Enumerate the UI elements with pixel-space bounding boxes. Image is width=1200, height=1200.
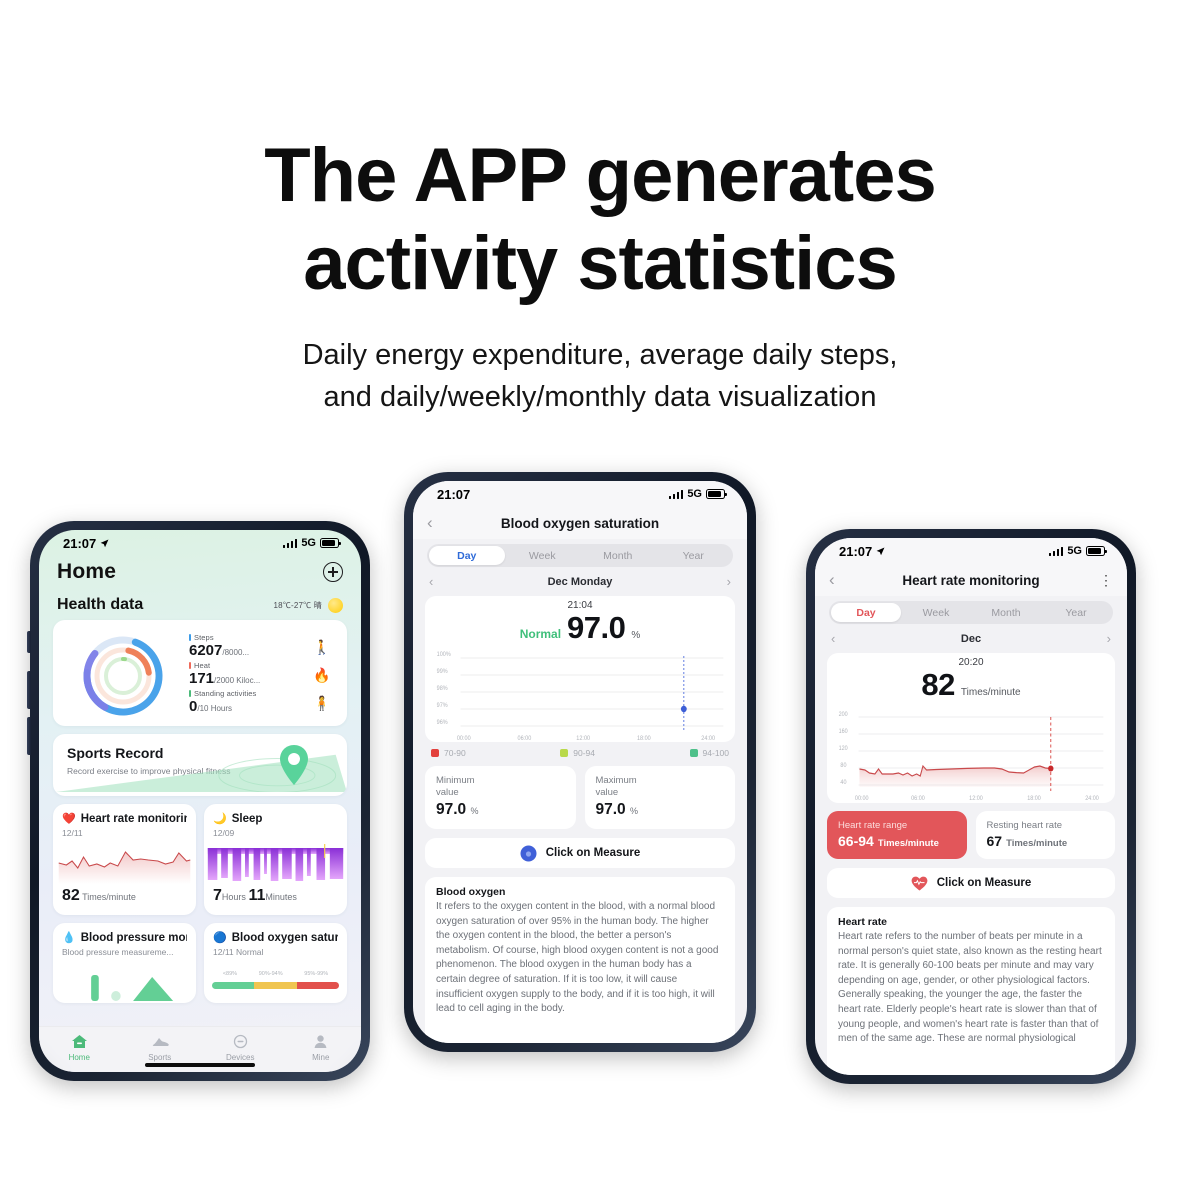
bo-range-0: <89% — [223, 971, 237, 977]
home-indicator — [145, 1063, 255, 1067]
svg-text:160: 160 — [839, 729, 848, 735]
phone-volume-down-button[interactable] — [27, 717, 31, 755]
spo2-status: Normal — [520, 627, 561, 641]
tab-devices[interactable]: Devices — [200, 1033, 281, 1062]
svg-text:24:00: 24:00 — [1085, 796, 1099, 802]
signal-icon — [1049, 547, 1064, 556]
svg-text:00:00: 00:00 — [855, 796, 869, 802]
hero-subtitle: Daily energy expenditure, average daily … — [0, 308, 1200, 418]
svg-text:200: 200 — [839, 712, 848, 718]
stat-heat-goal: /2000 Kiloc... — [214, 676, 260, 685]
location-arrow-icon — [876, 547, 885, 556]
stat-heat: Heat 171/2000 Kiloc... 🔥 — [189, 661, 331, 689]
location-pin-icon — [277, 744, 311, 786]
moon-icon: 🌙 — [213, 814, 227, 825]
hero-title-line2: activity statistics — [0, 220, 1200, 308]
location-arrow-icon — [100, 539, 109, 548]
status-right: 5G — [283, 537, 339, 549]
tab-month[interactable]: Month — [580, 546, 656, 565]
spo2-minimum-card: Minimumvalue 97.0 % — [425, 766, 576, 829]
activity-rings — [63, 632, 183, 718]
card-heart-rate-date: 12/11 — [53, 825, 196, 838]
measure-button-label: Click on Measure — [937, 877, 1032, 889]
sun-icon — [328, 598, 343, 613]
chevron-left-icon[interactable]: ‹ — [427, 513, 447, 533]
period-segmented-control: Day Week Month Year — [427, 544, 733, 567]
blood-oxygen-info-card: Blood oxygen It refers to the oxygen con… — [425, 877, 735, 1043]
spo2-chart-card: 21:04 Normal 97.0 % — [425, 596, 735, 742]
svg-text:18:00: 18:00 — [1027, 796, 1041, 802]
stat-steps: Steps 6207/8000... 🚶 — [189, 633, 331, 661]
spo2-min-value: 97.0 — [436, 801, 466, 818]
tab-week[interactable]: Week — [505, 546, 581, 565]
svg-text:100%: 100% — [437, 652, 451, 658]
date-prev-button[interactable]: ‹ — [429, 574, 433, 589]
info-body: It refers to the oxygen content in the b… — [436, 900, 724, 1017]
standing-person-icon: 🧍 — [313, 695, 331, 712]
stat-steps-value: 6207 — [189, 642, 222, 659]
heart-icon: ❤️ — [62, 814, 76, 825]
date-next-button[interactable]: › — [727, 574, 731, 589]
svg-text:98%: 98% — [437, 686, 448, 692]
flame-icon: 🔥 — [313, 667, 331, 684]
page-title: The APP generates activity statistics — [0, 0, 1200, 308]
home-title: Home — [57, 560, 116, 584]
walking-person-icon: 🚶 — [313, 639, 331, 656]
page-title: Blood oxygen saturation — [447, 516, 713, 531]
spo2-reading: 21:04 Normal 97.0 % — [425, 596, 735, 648]
date-prev-button[interactable]: ‹ — [831, 631, 835, 646]
stat-standing-label: Standing activities — [194, 689, 256, 698]
hero-sub-line1: Daily energy expenditure, average daily … — [303, 339, 898, 371]
date-next-button[interactable]: › — [1107, 631, 1111, 646]
card-heart-rate[interactable]: ❤️Heart rate monitorin 12/11 82 Times/mi… — [53, 804, 196, 915]
tab-sports-label: Sports — [120, 1053, 201, 1062]
health-data-label: Health data — [57, 596, 143, 614]
droplet-icon: 💧 — [62, 933, 76, 944]
bo-range-2: 95%-99% — [304, 971, 328, 977]
hr-unit: Times/minute — [961, 687, 1021, 698]
svg-text:96%: 96% — [437, 720, 448, 726]
plus-circle-icon[interactable] — [323, 562, 343, 582]
stat-steps-goal: /8000... — [222, 648, 249, 657]
card-sleep[interactable]: 🌙Sleep 12/09 — [204, 804, 347, 915]
card-heart-rate-value: 82 Times/minute — [53, 884, 196, 915]
stat-standing-goal: /10 Hours — [197, 704, 232, 713]
hero-sub-line2: and daily/weekly/monthly data visualizat… — [0, 376, 1200, 418]
spo2-maximum-card: Maximumvalue 97.0 % — [585, 766, 736, 829]
spo2-value: 97.0 — [567, 610, 625, 646]
oxygen-measure-icon — [520, 845, 537, 862]
card-blood-oxygen-subtitle: 12/11 Normal — [204, 944, 347, 957]
hr-range-value: 66-94 — [838, 833, 874, 849]
svg-text:12:00: 12:00 — [576, 736, 590, 742]
tab-day[interactable]: Day — [831, 603, 901, 622]
hr-resting-value: 67 — [987, 833, 1003, 849]
card-blood-oxygen[interactable]: 🔵Blood oxygen satur 12/11 Normal <89% 90… — [204, 923, 347, 1003]
spo2-chart[interactable]: 100%99%98% 97%96% 00:0006:0012:00 18:002… — [433, 650, 727, 742]
measure-button-label: Click on Measure — [546, 847, 641, 859]
tab-year[interactable]: Year — [1041, 603, 1111, 622]
heart-pulse-icon — [911, 876, 928, 891]
legend-item-1: 90-94 — [560, 748, 595, 758]
watch-icon — [200, 1033, 281, 1050]
tab-devices-label: Devices — [200, 1053, 281, 1062]
status-time: 21:07 — [437, 487, 470, 502]
card-blood-pressure-chart — [53, 963, 196, 1003]
battery-icon — [1086, 546, 1105, 556]
svg-text:40: 40 — [840, 780, 846, 786]
weather-text: 18℃-27℃ 晴 — [274, 600, 322, 611]
period-segmented-control: Day Week Month Year — [829, 601, 1113, 624]
measure-button[interactable]: Click on Measure — [425, 838, 735, 868]
network-label: 5G — [301, 537, 316, 549]
hr-chart-card: 20:20 82 Times/minute — [827, 653, 1115, 803]
tab-sports[interactable]: Sports — [120, 1033, 201, 1062]
tab-mine-label: Mine — [281, 1053, 362, 1062]
blood-oxygen-screen: 21:07 5G ‹ Blood oxygen saturation Day W… — [413, 481, 747, 1043]
phone-volume-up-button[interactable] — [27, 671, 31, 709]
nav-bar: ‹ Heart rate monitoring ⋮ — [815, 564, 1127, 596]
status-time: 21:07 — [63, 536, 96, 551]
info-heading: Blood oxygen — [436, 886, 724, 898]
status-left: 21:07 — [63, 536, 109, 551]
person-icon — [281, 1033, 362, 1050]
info-body: Heart rate refers to the number of beats… — [838, 930, 1104, 1047]
spo2-unit: % — [631, 630, 640, 641]
chevron-left-icon[interactable]: ‹ — [829, 570, 849, 590]
hr-reading: 20:20 82 Times/minute — [827, 653, 1115, 705]
phone-home: 21:07 5G Home Health data 18℃-27℃ 晴 — [30, 521, 370, 1081]
sports-record-card[interactable]: Sports Record Record exercise to improve… — [53, 734, 347, 796]
bo-range-1: 90%-94% — [259, 971, 283, 977]
svg-text:00:00: 00:00 — [457, 736, 471, 742]
svg-text:99%: 99% — [437, 669, 448, 675]
spo2-max-value: 97.0 — [596, 801, 626, 818]
more-vertical-icon[interactable]: ⋮ — [1093, 572, 1113, 589]
health-data-row: Health data 18℃-27℃ 晴 — [39, 584, 361, 620]
phone-mute-button[interactable] — [27, 631, 31, 653]
measure-button[interactable]: Click on Measure — [827, 868, 1115, 898]
status-bar: 21:07 5G — [413, 481, 747, 507]
page-title: Heart rate monitoring — [849, 573, 1093, 588]
hr-kpi-row: Heart rate range 66-94Times/minute Resti… — [827, 811, 1115, 859]
card-sleep-date: 12/09 — [204, 825, 347, 838]
hero-title-line1: The APP generates — [264, 133, 936, 218]
phone-blood-oxygen: 21:07 5G ‹ Blood oxygen saturation Day W… — [404, 472, 756, 1052]
hero-section: The APP generates activity statistics Da… — [0, 0, 1200, 418]
card-blood-pressure-title: Blood pressure mor — [81, 932, 187, 944]
hr-range-card: Heart rate range 66-94Times/minute — [827, 811, 967, 859]
hr-resting-label: Resting heart rate — [987, 820, 1105, 831]
network-label: 5G — [1067, 545, 1082, 557]
network-label: 5G — [687, 488, 702, 500]
svg-text:24:00: 24:00 — [701, 736, 715, 742]
stat-steps-label: Steps — [194, 633, 214, 642]
tab-week[interactable]: Week — [901, 603, 971, 622]
health-stats-list: Steps 6207/8000... 🚶 Heat 171/2000 Kiloc… — [183, 632, 335, 714]
card-blood-pressure[interactable]: 💧Blood pressure mor Blood pressure measu… — [53, 923, 196, 1003]
battery-icon — [706, 489, 725, 499]
card-sleep-chart — [204, 844, 347, 884]
date-navigator: ‹ Dec Monday › — [413, 567, 747, 591]
nav-bar: ‹ Blood oxygen saturation — [413, 507, 747, 539]
tab-home-label: Home — [39, 1053, 120, 1062]
status-time: 21:07 — [839, 544, 872, 559]
hr-resting-card: Resting heart rate 67Times/minute — [976, 811, 1116, 859]
promo-page: The APP generates activity statistics Da… — [0, 0, 1200, 1200]
spo2-minmax-row: Minimumvalue 97.0 % Maximumvalue 97.0 % — [425, 766, 735, 829]
tab-month[interactable]: Month — [971, 603, 1041, 622]
metric-card-row-2: 💧Blood pressure mor Blood pressure measu… — [53, 923, 347, 1003]
card-heart-rate-chart — [53, 844, 196, 884]
svg-text:12:00: 12:00 — [969, 796, 983, 802]
card-heart-rate-title: Heart rate monitorin — [81, 813, 187, 825]
phone-heart-rate: 21:07 5G ‹ Heart rate monitoring ⋮ Day — [806, 529, 1136, 1084]
card-blood-pressure-subtitle: Blood pressure measureme... — [53, 944, 196, 957]
home-topbar: Home — [39, 556, 361, 584]
signal-icon — [669, 490, 684, 499]
metric-card-row-1: ❤️Heart rate monitorin 12/11 82 Times/mi… — [53, 804, 347, 915]
svg-text:120: 120 — [839, 746, 848, 752]
legend-item-0: 70-90 — [431, 748, 466, 758]
date-label: Dec — [961, 633, 981, 645]
home-screen: 21:07 5G Home Health data 18℃-27℃ 晴 — [39, 530, 361, 1072]
spo2-legend: 70-90 90-94 94-100 — [413, 742, 747, 758]
status-bar: 21:07 5G — [39, 530, 361, 556]
shoe-icon — [120, 1033, 201, 1050]
svg-text:80: 80 — [840, 763, 846, 769]
signal-icon — [283, 539, 298, 548]
svg-text:06:00: 06:00 — [911, 796, 925, 802]
svg-text:06:00: 06:00 — [518, 736, 532, 742]
status-bar: 21:07 5G — [815, 538, 1127, 564]
heart-rate-screen: 21:07 5G ‹ Heart rate monitoring ⋮ Day — [815, 538, 1127, 1075]
date-label: Dec Monday — [548, 576, 613, 588]
card-sleep-value: 7Hours 11Minutes — [204, 884, 347, 915]
stat-standing: Standing activities 0/10 Hours 🧍 — [189, 689, 331, 717]
hr-value: 82 — [921, 667, 954, 703]
card-blood-oxygen-ranges: <89% 90%-94% 95%-99% — [204, 963, 347, 1001]
svg-text:18:00: 18:00 — [637, 736, 651, 742]
date-navigator: ‹ Dec › — [815, 624, 1127, 648]
card-sleep-title: Sleep — [232, 813, 263, 825]
svg-text:97%: 97% — [437, 703, 448, 709]
legend-item-2: 94-100 — [690, 748, 729, 758]
card-blood-oxygen-title: Blood oxygen satur — [232, 932, 338, 944]
heart-rate-info-card: Heart rate Heart rate refers to the numb… — [827, 907, 1115, 1075]
stat-heat-label: Heat — [194, 661, 210, 670]
hr-range-label: Heart rate range — [838, 820, 956, 831]
weather-widget: 18℃-27℃ 晴 — [274, 598, 343, 613]
hr-chart[interactable]: 200160120 8040 00:0006:0012:00 18:0024:0… — [835, 707, 1107, 803]
battery-icon — [320, 538, 339, 548]
tab-mine[interactable]: Mine — [281, 1033, 362, 1062]
tab-year[interactable]: Year — [656, 546, 732, 565]
info-heading: Heart rate — [838, 916, 1104, 928]
home-icon — [39, 1033, 120, 1050]
health-summary-card[interactable]: Steps 6207/8000... 🚶 Heat 171/2000 Kiloc… — [53, 620, 347, 726]
stat-heat-value: 171 — [189, 670, 214, 687]
tab-home[interactable]: Home — [39, 1033, 120, 1062]
tab-day[interactable]: Day — [429, 546, 505, 565]
circle-blue-icon: 🔵 — [213, 933, 227, 944]
